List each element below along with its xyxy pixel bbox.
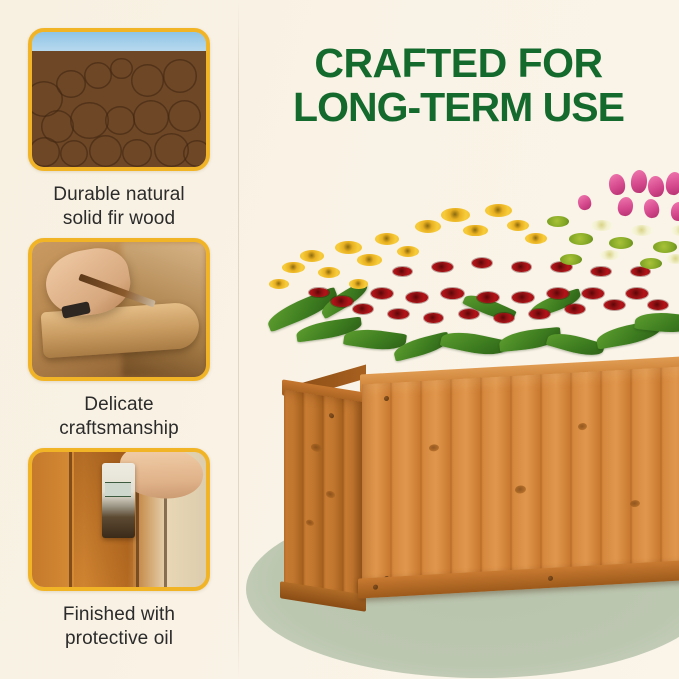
feature-item-durable-wood: Durable natural solid fir wood — [0, 28, 238, 232]
feature-caption: Delicate craftsmanship — [19, 393, 219, 442]
stacked-fir-logs-photo — [32, 32, 206, 167]
feature-caption: Durable natural solid fir wood — [19, 183, 219, 232]
planter-front-panel — [362, 364, 679, 597]
hero-panel: CRAFTED FOR LONG-TERM USE — [238, 0, 679, 679]
feature-caption-line1: Delicate — [84, 394, 153, 415]
page-title: CRAFTED FOR LONG-TERM USE — [238, 42, 679, 130]
flower-arrangement — [256, 170, 679, 380]
headline-line-1: CRAFTED FOR — [314, 40, 602, 86]
planter-side-panel — [284, 390, 364, 607]
feature-thumbnail-frame — [28, 448, 210, 591]
feature-caption-line2: solid fir wood — [63, 208, 175, 229]
feature-thumbnail-frame — [28, 238, 210, 381]
feature-item-craftsmanship: Delicate craftsmanship — [0, 238, 238, 442]
feature-list: Durable natural solid fir wood Deli — [0, 0, 238, 679]
wooden-planter-box — [284, 352, 679, 614]
feature-caption: Finished with protective oil — [19, 603, 219, 652]
headline-line-2: LONG-TERM USE — [238, 86, 679, 130]
feature-item-protective-oil: Finished with protective oil — [0, 448, 238, 652]
feature-caption-line1: Durable natural — [53, 184, 184, 205]
brush-applying-oil-photo — [32, 452, 206, 587]
feature-caption-line1: Finished with — [63, 604, 175, 625]
hand-carving-wood-photo — [32, 242, 206, 377]
feature-caption-line2: protective oil — [65, 628, 173, 649]
infographic-canvas: Durable natural solid fir wood Deli — [0, 0, 679, 679]
feature-thumbnail-frame — [28, 28, 210, 171]
feature-caption-line2: craftsmanship — [59, 418, 179, 439]
